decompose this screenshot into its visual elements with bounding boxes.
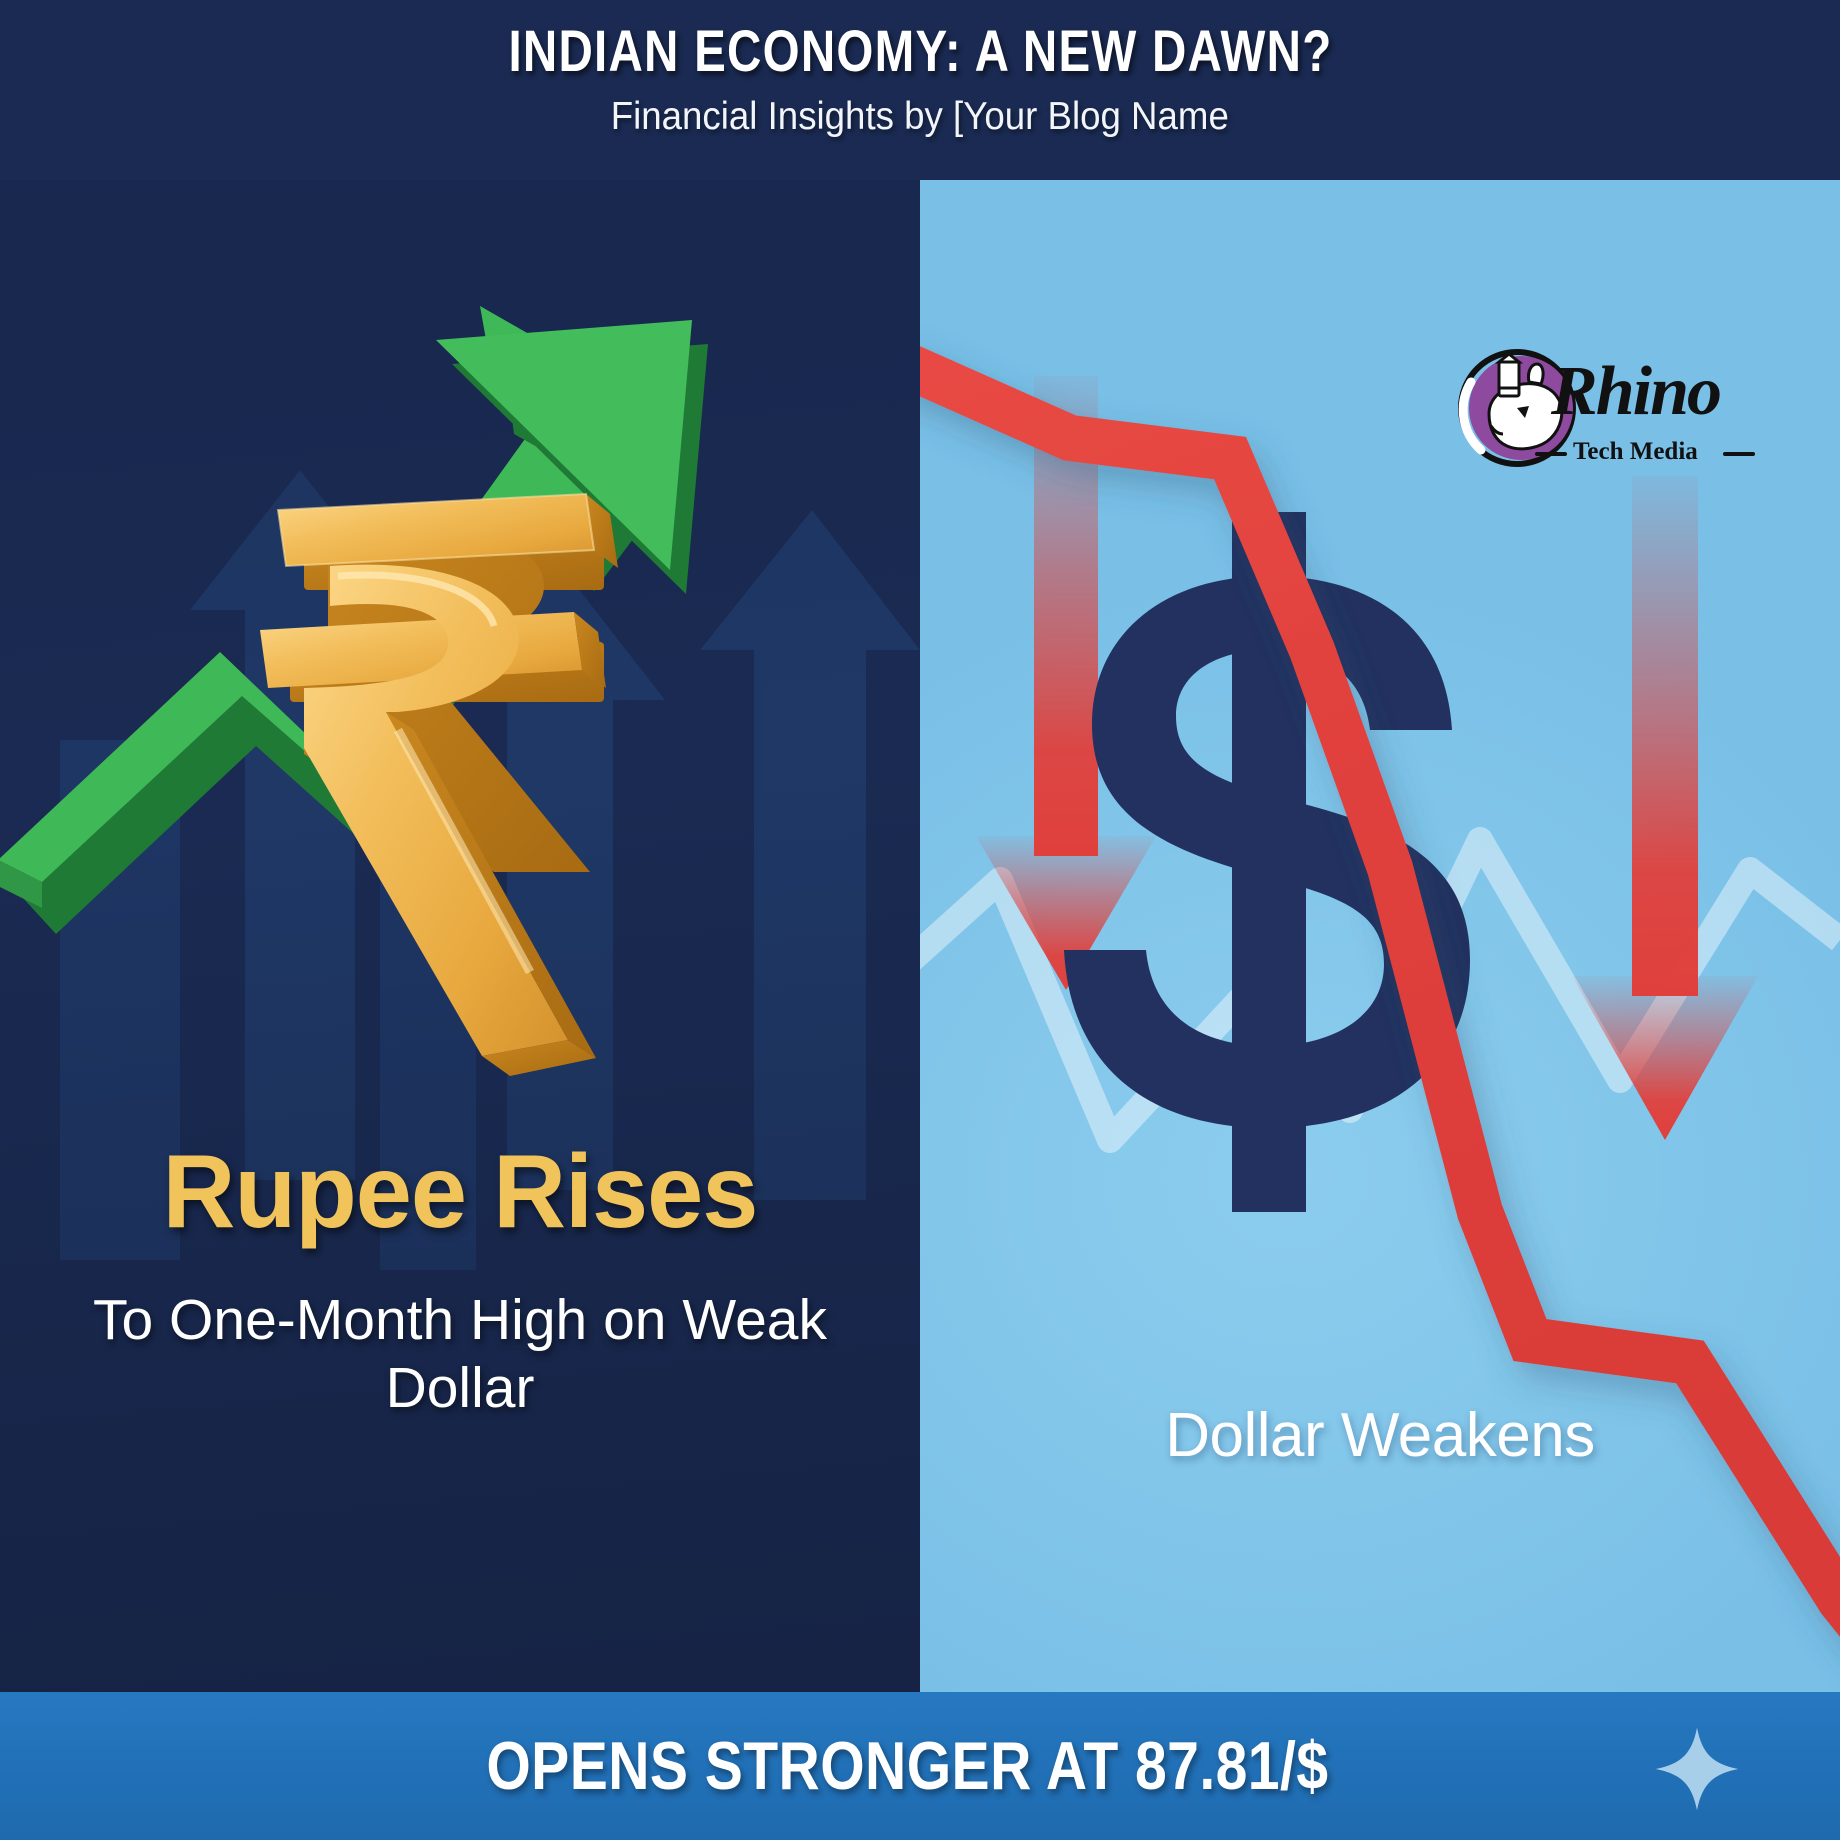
infographic-poster: INDIAN ECONOMY: A NEW DAWN? Financial In…: [0, 0, 1840, 1840]
poster-footer: OPENS STRONGER AT 87.81/$: [0, 1692, 1840, 1840]
rupee-symbol-icon: [238, 480, 698, 1180]
brand-logo[interactable]: Rhino Tech Media: [1455, 342, 1755, 502]
logo-tagline: Tech Media: [1573, 438, 1698, 466]
page-subtitle: Financial Insights by [Your Blog Name: [611, 95, 1229, 139]
rupee-panel: Rupee Rises To One-Month High on Weak Do…: [0, 180, 920, 1692]
page-title: INDIAN ECONOMY: A NEW DAWN?: [508, 22, 1332, 83]
rupee-subtext: To One-Month High on Weak Dollar: [60, 1286, 860, 1423]
footer-banner-text: OPENS STRONGER AT 87.81/$: [147, 1692, 1693, 1840]
logo-rule-right: [1723, 452, 1755, 456]
poster-header: INDIAN ECONOMY: A NEW DAWN? Financial In…: [0, 0, 1840, 180]
sparkle-icon: [1654, 1726, 1740, 1812]
logo-rule-left: [1535, 452, 1567, 456]
dollar-panel: Dollar Weakens: [920, 180, 1840, 1692]
panels-container: Rupee Rises To One-Month High on Weak Do…: [0, 180, 1840, 1692]
rupee-text-block: Rupee Rises To One-Month High on Weak Do…: [0, 1140, 920, 1423]
dollar-caption: Dollar Weakens: [920, 1400, 1840, 1471]
logo-wordmark: Rhino: [1551, 352, 1720, 432]
rupee-headline: Rupee Rises: [72, 1140, 848, 1244]
